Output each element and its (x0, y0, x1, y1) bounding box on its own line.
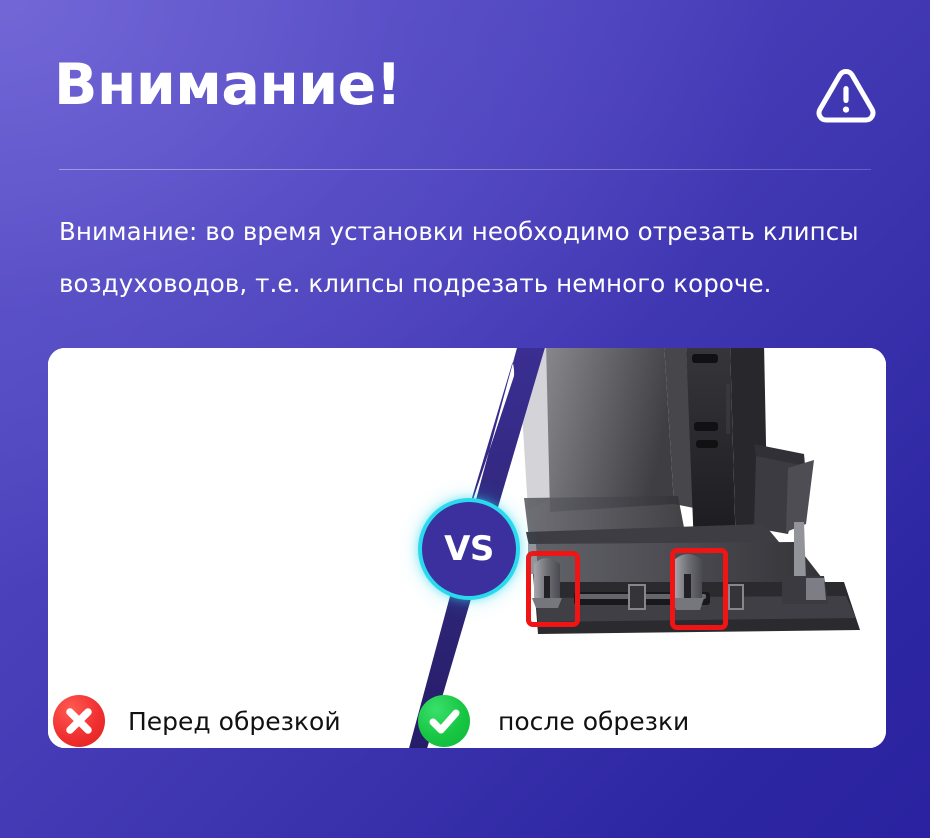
after-pane (488, 348, 886, 748)
attention-banner: Внимание! Внимание: во время установки н… (0, 0, 930, 838)
page-title: Внимание! (54, 57, 401, 114)
highlight-box-left-2 (244, 544, 300, 626)
vs-badge: VS (418, 498, 520, 600)
warning-triangle-icon (812, 62, 880, 130)
before-label-group: Перед обрезкой (53, 695, 341, 747)
highlight-box-right-1 (526, 551, 580, 627)
before-label: Перед обрезкой (128, 707, 341, 736)
after-photo (488, 348, 886, 678)
banner-header: Внимание! (0, 0, 930, 175)
highlight-box-right-2 (670, 548, 728, 630)
highlight-box-left-1 (136, 548, 192, 626)
header-divider-rule (59, 169, 871, 170)
after-label-group: после обрезки (418, 695, 689, 747)
after-label: после обрезки (498, 707, 689, 736)
warning-message-line-2: воздуховодов, т.е. клипсы подрезать немн… (59, 258, 879, 310)
warning-message-line-1: Внимание: во время установки необходимо … (59, 206, 879, 258)
cross-icon (53, 695, 105, 747)
vs-label: VS (444, 529, 494, 569)
check-icon (418, 695, 470, 747)
warning-message: Внимание: во время установки необходимо … (59, 206, 879, 310)
